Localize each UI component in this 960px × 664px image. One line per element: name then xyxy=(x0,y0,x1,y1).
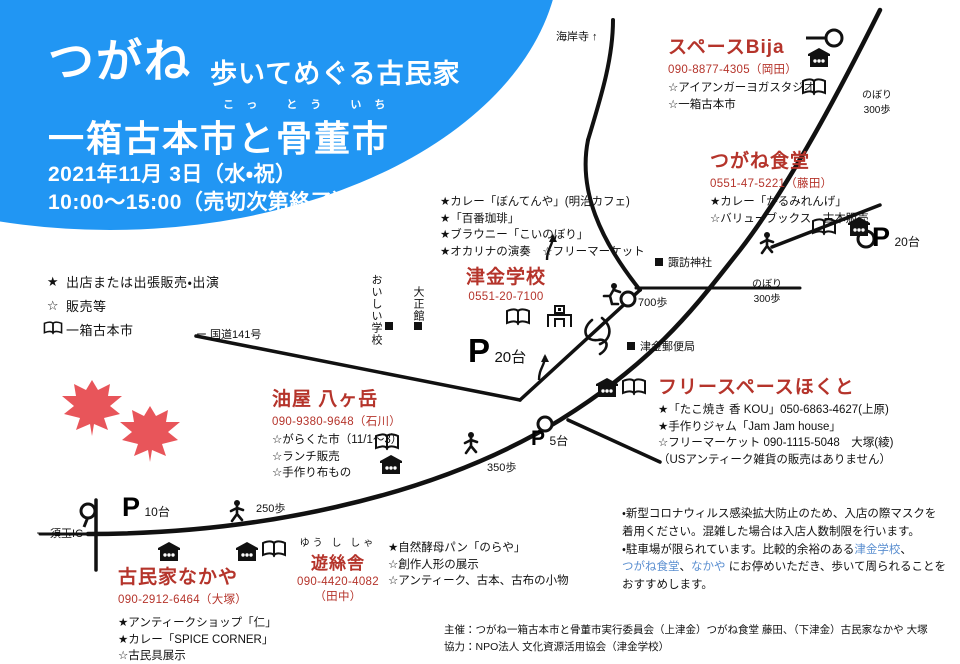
venue-kominka-nakaya[interactable]: 古民家なかや 090-2912-6464（大塚） ★アンティークショップ「仁」 … xyxy=(118,562,277,664)
road-node-marker xyxy=(826,30,842,46)
page-title: つがね xyxy=(48,38,192,84)
venue-item: ★「たこ焼き 香 KOU」050-6863-4627(上原) xyxy=(658,402,893,419)
legend-item-label: 一箱古本市 xyxy=(66,320,134,339)
footer-organizer: 主催：つがね一箱古本市と骨董市実行委員会（上津金）つがね食堂 藤田、（下津金）古… xyxy=(444,622,928,639)
event-time: 10:00〜15:00（売切次第終了） xyxy=(48,186,354,216)
venue-free-space-hokuto[interactable]: フリースペースほくと ★「たこ焼き 香 KOU」050-6863-4627(上原… xyxy=(658,372,893,469)
venue-tel-person: （田中） xyxy=(297,588,379,604)
nobori-1-steps: 300歩 xyxy=(862,101,892,116)
notice-line: 着用ください。混雑した場合は入店人数制限を行います。 xyxy=(622,524,952,542)
nobori-2-steps: 300歩 xyxy=(752,290,782,305)
legend: ★ 出店または出張販売・出演 ☆ 販売等 一箱古本市 xyxy=(40,272,219,344)
venue-space-bija[interactable]: スペースBija 090-8877-4305（岡田） ☆アイアンガーヨガスタジオ… xyxy=(668,32,815,113)
label-steps-350: 350歩 xyxy=(487,459,516,475)
flyer-canvas: つがね 歩いてめぐる古民家 こっ とう いち 一箱古本市と骨董市 2021年11… xyxy=(0,0,960,664)
venue-aburaya-yatsugatake[interactable]: 油屋 八ヶ岳 090-9380-9648（石川） ☆がらくた市（11/1〜3） … xyxy=(272,384,402,482)
maple-leaf-icon xyxy=(60,378,124,440)
page-subtitle: 歩いてめぐる古民家 xyxy=(210,52,461,91)
venue-name: 遊絲舎 xyxy=(297,549,379,574)
venue-tsugane-gakko-items: ★カレー「ぼんてんや」(明治カフェ) ★「百番珈琲」 ★ブラウニー「こいのぼり」… xyxy=(440,194,645,261)
venue-item: ★カレー「SPICE CORNER」 xyxy=(118,632,277,649)
venue-name: つがね食堂 xyxy=(710,146,869,173)
label-suwa-shrine: 諏訪神社 xyxy=(668,254,712,270)
venue-item: ★ブラウニー「こいのぼり」 xyxy=(440,227,645,244)
road-node-marker xyxy=(621,292,635,306)
venue-item: ☆古民具展示 xyxy=(118,648,277,664)
notice-line: ・駐車場が限られています。比較的余裕のある津金学校、 xyxy=(622,542,952,560)
venue-item: ★オカリナの演奏 ☆フリーマーケット xyxy=(440,244,645,261)
parking-marker: P 20台 xyxy=(872,222,920,253)
venue-item: ★手作りジャム「Jam Jam house」 xyxy=(658,419,893,436)
parking-capacity: 20台 xyxy=(894,235,919,249)
label-sutama-ic: ー 須玉IC xyxy=(36,525,83,541)
venue-item: ☆創作人形の展示 xyxy=(388,557,569,574)
nobori-1-text: のぼり xyxy=(862,86,892,101)
venue-item: ☆アンティーク、古本、古布の小物 xyxy=(388,573,569,590)
footer-cooperation: 協力：NPO法人 文化資源活用協会（津金学校） xyxy=(444,639,928,656)
venue-item: ☆バリューブックス 古本販売 xyxy=(710,211,869,228)
venue-name: スペースBija xyxy=(668,32,815,59)
label-kaiganji: 海岸寺 ↑ xyxy=(556,28,598,44)
legend-item: ☆ 販売等 xyxy=(40,296,219,315)
venue-item: ☆手作り布もの xyxy=(272,465,402,482)
venue-tel: 090-4420-4082 xyxy=(297,576,379,588)
label-steps-700: 700歩 xyxy=(638,294,667,310)
label-tsugane-post-office: 津金郵便局 xyxy=(640,338,695,354)
star-filled-icon: ★ xyxy=(40,274,66,290)
venue-tel: 0551-20-7100 xyxy=(466,291,546,303)
legend-item: 一箱古本市 xyxy=(40,320,219,339)
venue-tsugane-gakko[interactable]: 津金学校 0551-20-7100 xyxy=(466,262,546,303)
parking-capacity: 5台 xyxy=(549,434,568,448)
legend-item: ★ 出店または出張販売・出演 xyxy=(40,272,219,291)
open-book-icon xyxy=(40,321,66,338)
parking-marker: P 5台 xyxy=(531,427,568,451)
label-route-141: ー 国道141号 xyxy=(196,326,261,342)
parking-p-icon: P xyxy=(531,427,545,450)
venue-item: （USアンティーク雑貨の販売はありません） xyxy=(658,452,893,469)
venue-tsugane-shokudo[interactable]: つがね食堂 0551-47-5221（藤田） ★カレー「かるみれんげ」 ☆バリュ… xyxy=(710,146,869,227)
label-taishokan: 大正館 xyxy=(410,286,426,322)
road-node-marker xyxy=(81,504,95,518)
venue-tel: 090-2912-6464（大塚） xyxy=(118,591,277,607)
page-title-line2: 一箱古本市と骨董市 xyxy=(48,110,390,162)
parking-p-icon: P xyxy=(468,332,490,369)
notice-block: ・新型コロナウィルス感染拡大防止のため、入店の際マスクを 着用ください。混雑した… xyxy=(622,506,952,595)
notice-line: おすすめします。 xyxy=(622,577,952,595)
legend-item-label: 販売等 xyxy=(66,296,107,315)
venue-item: ★自然酵母パン「のらや」 xyxy=(388,540,569,557)
venue-item: ☆がらくた市（11/1〜3） xyxy=(272,432,402,449)
venue-item: ☆ランチ販売 xyxy=(272,449,402,466)
legend-item-label: 出店または出張販売・出演 xyxy=(66,272,219,291)
venue-item: ★カレー「ぼんてんや」(明治カフェ) xyxy=(440,194,645,211)
parking-p-icon: P xyxy=(122,492,140,522)
venue-ruby: ゆう し しゃ xyxy=(297,534,379,549)
parking-marker: P 20台 xyxy=(468,332,526,370)
venue-item: ★アンティークショップ「仁」 xyxy=(118,615,277,632)
footer-block: 主催：つがね一箱古本市と骨董市実行委員会（上津金）つがね食堂 藤田、（下津金）古… xyxy=(444,622,928,656)
venue-item: ☆アイアンガーヨガスタジオ xyxy=(668,80,815,97)
venue-item: ★「百番珈琲」 xyxy=(440,211,645,228)
parking-marker: P 10台 xyxy=(122,492,170,523)
parking-p-icon: P xyxy=(872,222,890,252)
label-nobori-2: のぼり 300歩 xyxy=(752,275,782,305)
venue-name: 古民家なかや xyxy=(118,562,277,589)
venue-yushisha-items: ★自然酵母パン「のらや」 ☆創作人形の展示 ☆アンティーク、古本、古布の小物 xyxy=(388,540,569,590)
venue-item: ★カレー「かるみれんげ」 xyxy=(710,194,869,211)
arrow-up-icon xyxy=(533,352,553,382)
venue-tel: 0551-47-5221（藤田） xyxy=(710,175,869,191)
label-steps-250: 250歩 xyxy=(256,500,285,516)
label-oishii-gakko: おいしい学校 xyxy=(368,274,384,346)
notice-line: つがね食堂、なかや にお停めいただき、歩いて周られることを xyxy=(622,559,952,577)
venue-name: 油屋 八ヶ岳 xyxy=(272,384,402,411)
notice-line: ・新型コロナウィルス感染拡大防止のため、入店の際マスクを xyxy=(622,506,952,524)
venue-yushisha[interactable]: ゆう し しゃ 遊絲舎 090-4420-4082 （田中） xyxy=(297,534,379,604)
venue-tel: 090-8877-4305（岡田） xyxy=(668,61,815,77)
venue-name: フリースペースほくと xyxy=(658,372,893,399)
maple-leaf-icon xyxy=(118,404,182,466)
venue-item: ☆一箱古本市 xyxy=(668,97,815,114)
venue-name: 津金学校 xyxy=(466,262,546,289)
nobori-2-text: のぼり xyxy=(752,275,782,290)
venue-item: ☆フリーマーケット 090-1115-5048 大塚(綾) xyxy=(658,435,893,452)
event-date: 2021年11月 3日（水・祝） xyxy=(48,158,297,188)
star-outline-icon: ☆ xyxy=(40,298,66,314)
notice-line-text: ・駐車場が限られています。比較的余裕のある津金学校、 xyxy=(622,544,912,556)
parking-capacity: 10台 xyxy=(144,505,169,519)
venue-tel: 090-9380-9648（石川） xyxy=(272,413,402,429)
label-nobori-1: のぼり 300歩 xyxy=(862,86,892,116)
parking-capacity: 20台 xyxy=(494,349,526,366)
notice-line-text: つがね食堂、なかや にお停めいただき、歩いて周られることを xyxy=(622,561,946,573)
